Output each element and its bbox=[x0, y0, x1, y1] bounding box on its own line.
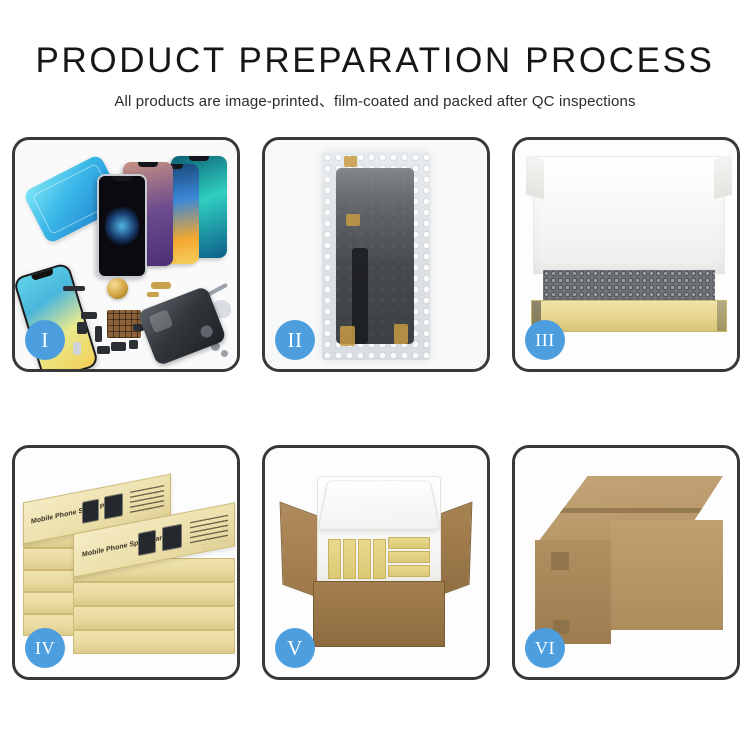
bubble-wrap-bag bbox=[322, 152, 430, 360]
stacked-box bbox=[73, 606, 235, 630]
yellow-box-item bbox=[373, 539, 386, 579]
box-print-thumbnail bbox=[138, 530, 156, 556]
spare-part bbox=[151, 282, 171, 289]
spare-part bbox=[63, 286, 85, 291]
box-print-thumbnail bbox=[162, 524, 182, 552]
process-step-panel-5: V bbox=[262, 445, 490, 680]
process-step-panel-4: Mobile Phone Spare Parts Mobile Phone Sp… bbox=[12, 445, 240, 680]
step-badge-1: I bbox=[25, 320, 65, 360]
box-print-textlines bbox=[190, 515, 228, 547]
step-badge-6: VI bbox=[525, 628, 565, 668]
box-lid-white bbox=[533, 156, 725, 274]
stacked-box bbox=[73, 582, 235, 606]
phone-black-screen bbox=[97, 174, 147, 278]
gold-connector bbox=[344, 156, 357, 167]
spare-part bbox=[77, 322, 87, 334]
process-step-grid: I II bbox=[12, 137, 740, 680]
step-badge-3: III bbox=[525, 320, 565, 360]
screw-part bbox=[221, 350, 228, 357]
spare-part bbox=[111, 342, 126, 351]
yellow-box-item bbox=[388, 537, 430, 549]
carton-front-wall bbox=[313, 581, 445, 647]
process-step-panel-2: II bbox=[262, 137, 490, 372]
yellow-box-item bbox=[328, 539, 341, 579]
protective-foam-layer bbox=[543, 270, 715, 302]
spare-part bbox=[147, 292, 159, 297]
yellow-box-item bbox=[343, 539, 356, 579]
step-badge-5: V bbox=[275, 628, 315, 668]
page-subtitle: All products are image-printed、film-coat… bbox=[0, 90, 750, 111]
spare-part bbox=[81, 312, 97, 319]
foam-lid bbox=[318, 481, 441, 530]
gold-connector bbox=[346, 214, 360, 226]
yellow-box-item bbox=[388, 565, 430, 577]
spare-part bbox=[97, 346, 110, 354]
gold-connector bbox=[394, 324, 408, 344]
process-step-panel-1: I bbox=[12, 137, 240, 372]
process-step-panel-3: III bbox=[512, 137, 740, 372]
carton-tab bbox=[551, 552, 569, 570]
phone-notch-icon bbox=[112, 176, 132, 181]
yellow-box-item bbox=[358, 539, 371, 579]
screen-assembly bbox=[336, 168, 414, 344]
spare-part bbox=[73, 342, 81, 355]
product-preparation-process-page: PRODUCT PREPARATION PROCESS All products… bbox=[0, 0, 750, 750]
step-badge-4: IV bbox=[25, 628, 65, 668]
spare-part bbox=[129, 340, 138, 349]
stacked-box bbox=[73, 630, 235, 654]
phone-notch-icon bbox=[189, 156, 209, 161]
page-header: PRODUCT PREPARATION PROCESS All products… bbox=[0, 0, 750, 111]
spare-part bbox=[95, 326, 102, 342]
box-stack-front: Mobile Phone Spare Parts bbox=[73, 510, 235, 668]
page-title: PRODUCT PREPARATION PROCESS bbox=[0, 40, 750, 81]
yellow-box-item bbox=[388, 551, 430, 563]
process-step-panel-6: VI bbox=[512, 445, 740, 680]
step-badge-2: II bbox=[275, 320, 315, 360]
phone-notch-icon bbox=[138, 162, 158, 167]
phone-lineup bbox=[87, 152, 237, 272]
speaker-coil-part bbox=[107, 278, 128, 299]
carton-right-face bbox=[611, 520, 723, 630]
gold-connector bbox=[340, 326, 355, 346]
